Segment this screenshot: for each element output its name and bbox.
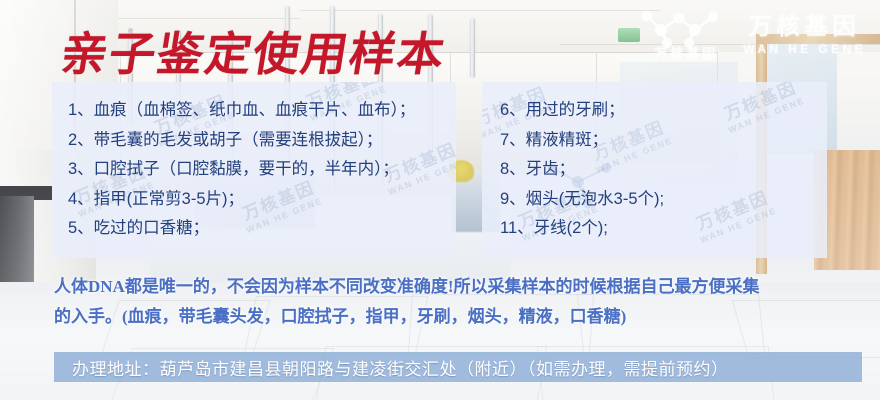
list-item: 2、带毛囊的毛发或胡子（需要连根拔起）； [68, 126, 456, 156]
list-item: 4、指甲(正常剪3-5片)； [68, 185, 456, 215]
list-item: 6、用过的牙刷； [500, 96, 827, 126]
sample-list-panel-left: 万核基因 WAN HE GENE 万核基因 WAN HE GENE 万核基因 W… [52, 82, 456, 258]
list-item: 11、牙线(2个); [500, 214, 827, 244]
dna-molecule-icon: 万核基因 [637, 8, 729, 62]
brand-wordmark: 万核基因 WAN HE GENE [743, 15, 866, 55]
description-paragraph: 人体DNA都是唯一的，不会因为样本不同改变准确度!所以采集样本的时候根据自己最方… [54, 272, 854, 332]
brand-mark-label: 万核基因 [643, 43, 729, 62]
list-item: 1、血痕（血棉签、纸巾血、血痕干片、血布）； [68, 96, 456, 126]
brand-name-en: WAN HE GENE [743, 43, 866, 55]
brand-logo: 万核基因 万核基因 WAN HE GENE [637, 6, 866, 64]
sample-list-left: 1、血痕（血棉签、纸巾血、血痕干片、血布）； 2、带毛囊的毛发或胡子（需要连根拔… [52, 82, 456, 244]
brand-name-cn: 万核基因 [749, 15, 861, 38]
list-item: 7、精液精斑； [500, 126, 827, 156]
page-title: 亲子鉴定使用样本 [57, 18, 451, 84]
list-item: 9、烟头(无泡水3-5个); [500, 185, 827, 215]
address-text: 办理地址：葫芦岛市建昌县朝阳路与建凌街交汇处（附近）（如需办理，需提前预约） [54, 355, 729, 380]
address-bar: 办理地址：葫芦岛市建昌县朝阳路与建凌街交汇处（附近）（如需办理，需提前预约） [54, 352, 862, 382]
list-item: 5、吃过的口香糖； [68, 214, 456, 244]
sample-list-panel-right: 万核基因 WAN HE GENE 万核基因 WAN HE GENE 万核基因 W… [482, 82, 827, 258]
paragraph-line: 的入手。(血痕，带毛囊头发，口腔拭子，指甲，牙刷，烟头，精液，口香糖) [54, 302, 854, 332]
poster-canvas: 万核基因 万核基因 WAN HE GENE 亲子鉴定使用样本 万核基因 WAN … [0, 0, 880, 400]
list-item: 8、牙齿； [500, 155, 827, 185]
sample-list-right: 6、用过的牙刷； 7、精液精斑； 8、牙齿； 9、烟头(无泡水3-5个); 11… [482, 82, 827, 244]
paragraph-line: 人体DNA都是唯一的，不会因为样本不同改变准确度!所以采集样本的时候根据自己最方… [54, 272, 854, 302]
list-item: 3、口腔拭子（口腔黏膜，要干的，半年内）； [68, 155, 456, 185]
